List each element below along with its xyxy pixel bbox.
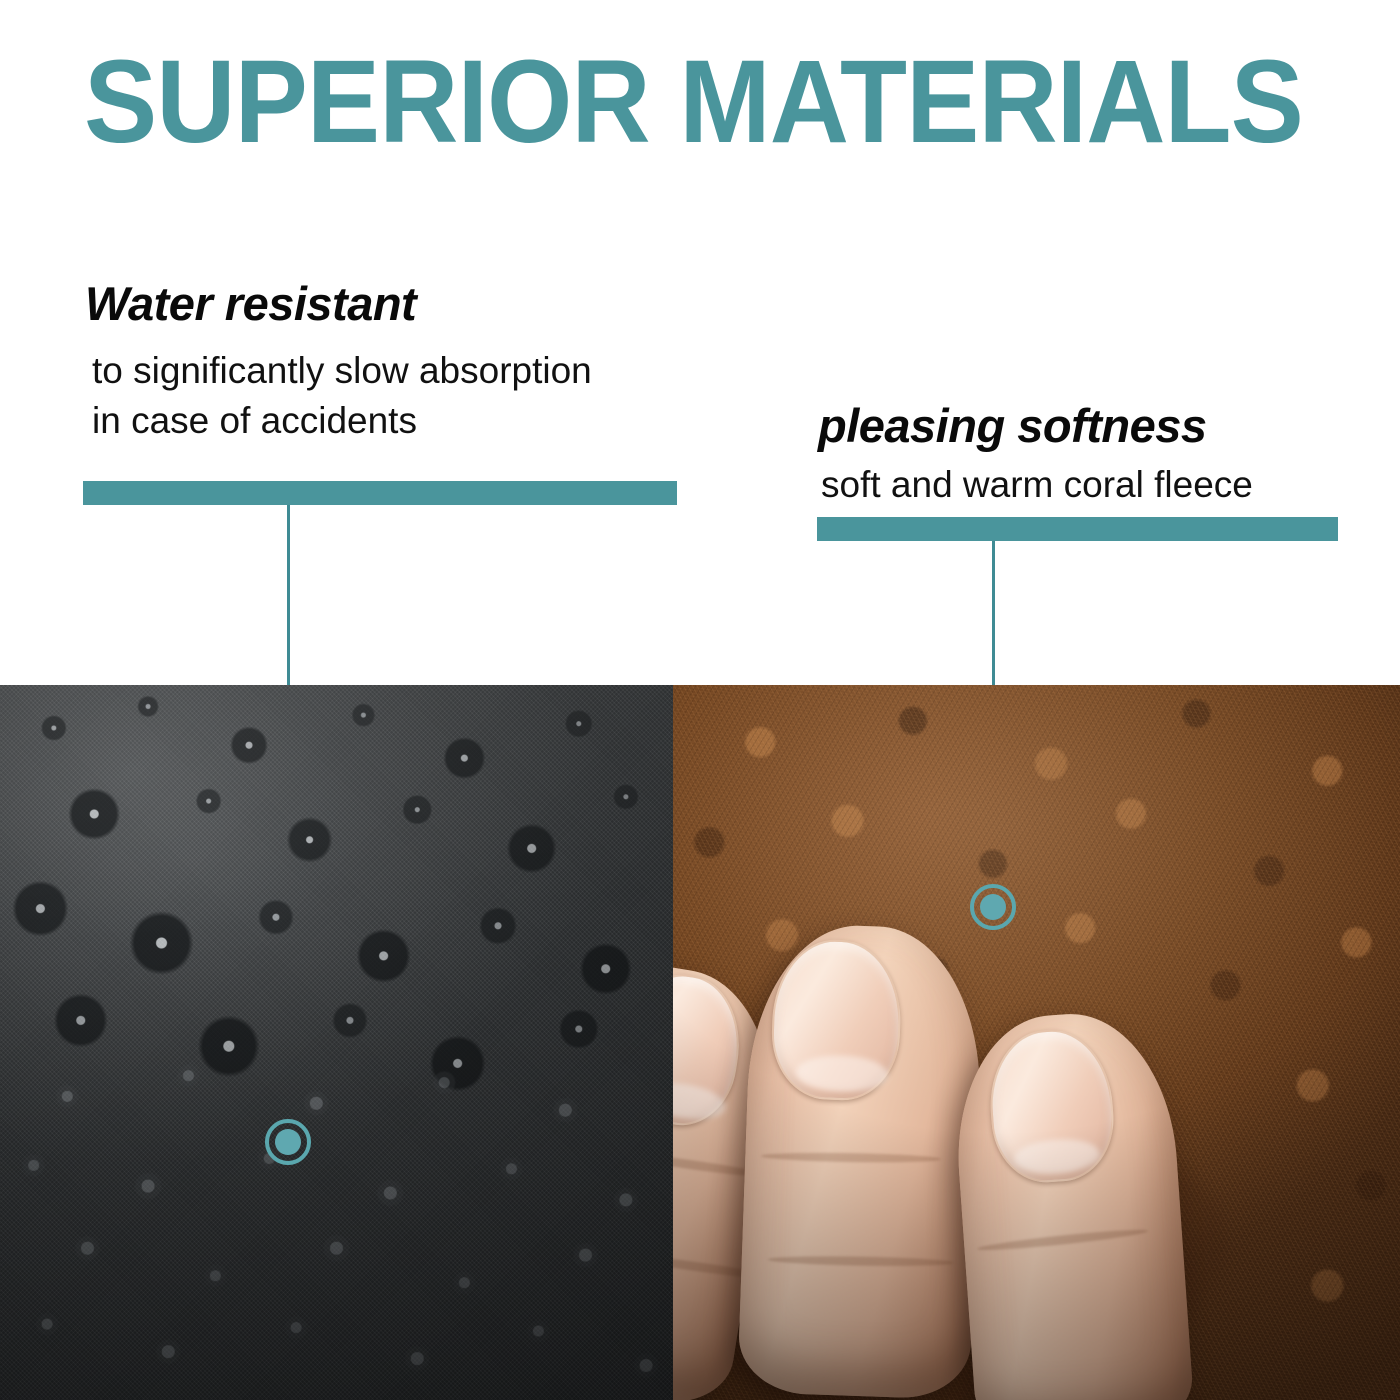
accent-rule-water-resistant	[83, 481, 677, 505]
marker-dot-pleasing-softness[interactable]	[970, 884, 1016, 930]
page-title: SUPERIOR MATERIALS	[84, 46, 1200, 158]
photo-water-resistant-fabric	[0, 685, 673, 1400]
feature-description-line1-water-resistant: to significantly slow absorption	[92, 346, 592, 396]
marker-dot-water-resistant[interactable]	[265, 1119, 311, 1165]
feature-heading-pleasing-softness: pleasing softness	[818, 398, 1253, 454]
feature-description-line2-water-resistant: in case of accidents	[92, 396, 592, 446]
photo-strip	[0, 685, 1400, 1400]
feature-callout-pleasing-softness: pleasing softness soft and warm coral fl…	[818, 398, 1253, 510]
photo-coral-fleece	[673, 685, 1400, 1400]
infographic-page: SUPERIOR MATERIALS Water resistant to si…	[0, 0, 1400, 1400]
feature-heading-water-resistant: Water resistant	[85, 276, 592, 332]
feature-callout-water-resistant: Water resistant to significantly slow ab…	[85, 276, 592, 446]
feature-description-line1-pleasing-softness: soft and warm coral fleece	[821, 460, 1253, 510]
photo-vignette	[0, 685, 673, 1400]
accent-rule-pleasing-softness	[817, 517, 1338, 541]
fleece-photo-vignette	[673, 685, 1400, 1400]
